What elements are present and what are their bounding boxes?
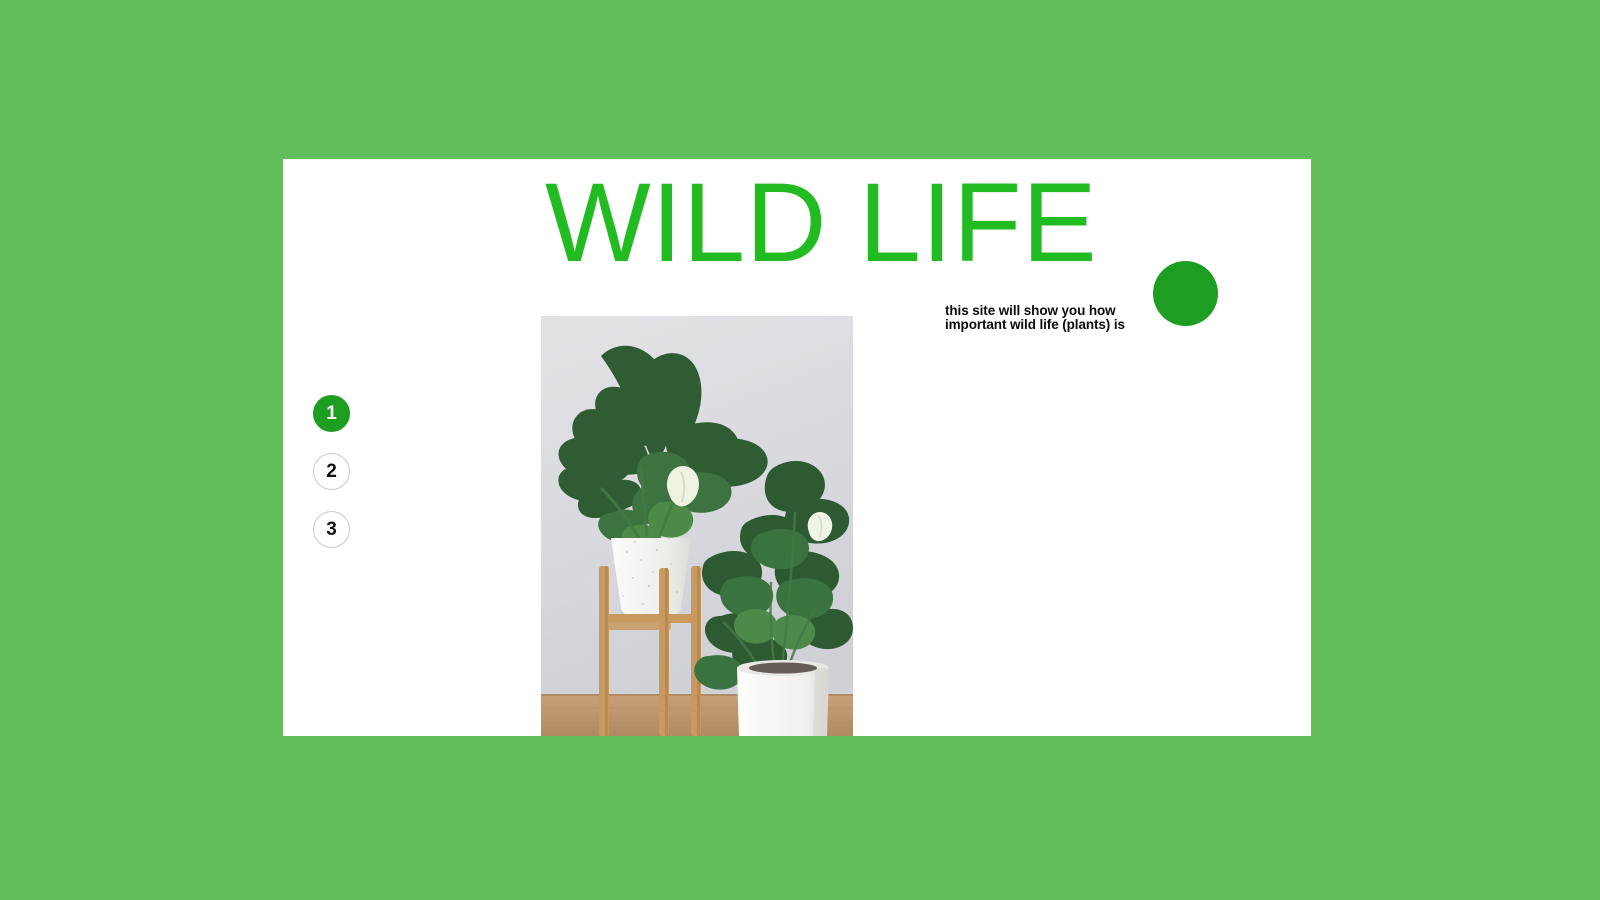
pagination-item-1-label: 1 bbox=[326, 403, 337, 425]
pagination-item-2-label: 2 bbox=[326, 461, 337, 483]
pagination-item-3-label: 3 bbox=[326, 519, 337, 541]
pagination-item-1[interactable]: 1 bbox=[313, 395, 350, 432]
pagination-item-2[interactable]: 2 bbox=[313, 453, 350, 490]
pagination: 1 2 3 bbox=[313, 395, 350, 548]
page-title: WILD LIFE bbox=[545, 167, 1185, 279]
plant-photo bbox=[541, 316, 853, 736]
slide-stage: WILD LIFE this site will show you how im… bbox=[0, 0, 1600, 900]
hero-tagline: this site will show you how important wi… bbox=[945, 304, 1175, 332]
slide-card: WILD LIFE this site will show you how im… bbox=[283, 159, 1311, 736]
pagination-item-3[interactable]: 3 bbox=[313, 511, 350, 548]
plant-photo-illustration bbox=[541, 316, 853, 736]
